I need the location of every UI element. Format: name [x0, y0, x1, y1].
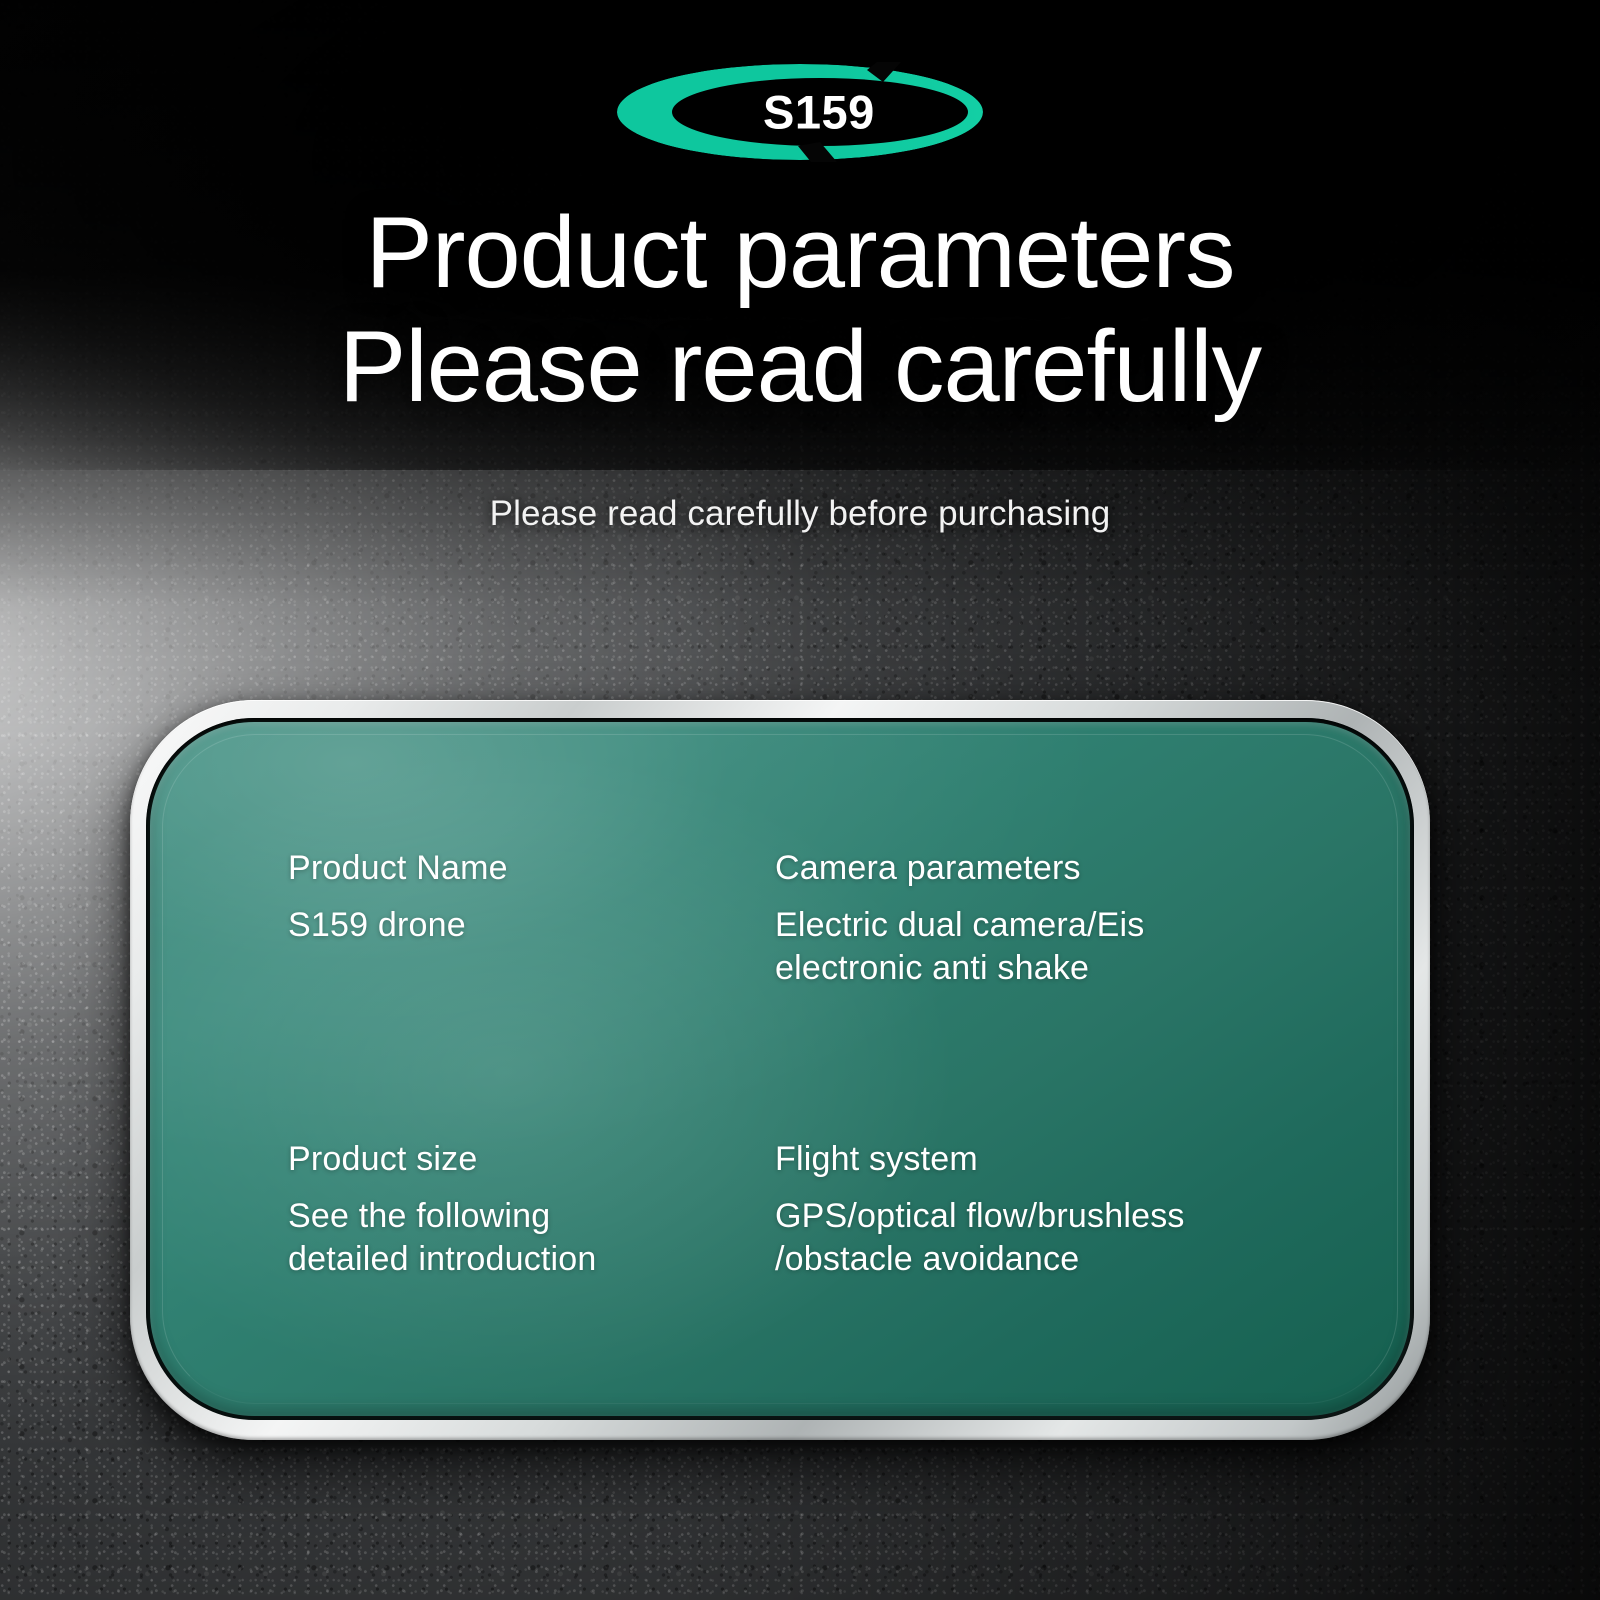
page-title-line-2: Please read carefully	[0, 310, 1600, 424]
spec-label: Camera parameters	[775, 848, 1262, 889]
spec-label: Product Name	[288, 848, 775, 889]
spec-item-product-size: Product size See the following detailed …	[288, 1139, 775, 1282]
page-title: Product parameters Please read carefully	[0, 196, 1600, 424]
logo-wordmark: S159	[763, 89, 875, 136]
spec-label: Flight system	[775, 1139, 1262, 1180]
specs-grid: Product Name S159 drone Camera parameter…	[288, 848, 1288, 1282]
spec-value: Electric dual camera/Eis electronic anti…	[775, 904, 1245, 991]
spec-item-camera-parameters: Camera parameters Electric dual camera/E…	[775, 848, 1262, 991]
product-parameters-page: S159 Product parameters Please read care…	[0, 0, 1600, 1600]
spec-value: See the following detailed introduction	[288, 1195, 758, 1282]
page-subtitle: Please read carefully before purchasing	[0, 494, 1600, 534]
spec-label: Product size	[288, 1139, 775, 1180]
brand-logo: S159	[615, 62, 985, 162]
specs-card: Product Name S159 drone Camera parameter…	[130, 700, 1430, 1440]
page-title-line-1: Product parameters	[0, 196, 1600, 310]
spec-value: GPS/optical flow/brushless /obstacle avo…	[775, 1195, 1245, 1282]
spec-item-product-name: Product Name S159 drone	[288, 848, 775, 991]
spec-item-flight-system: Flight system GPS/optical flow/brushless…	[775, 1139, 1262, 1282]
spec-value: S159 drone	[288, 904, 758, 948]
